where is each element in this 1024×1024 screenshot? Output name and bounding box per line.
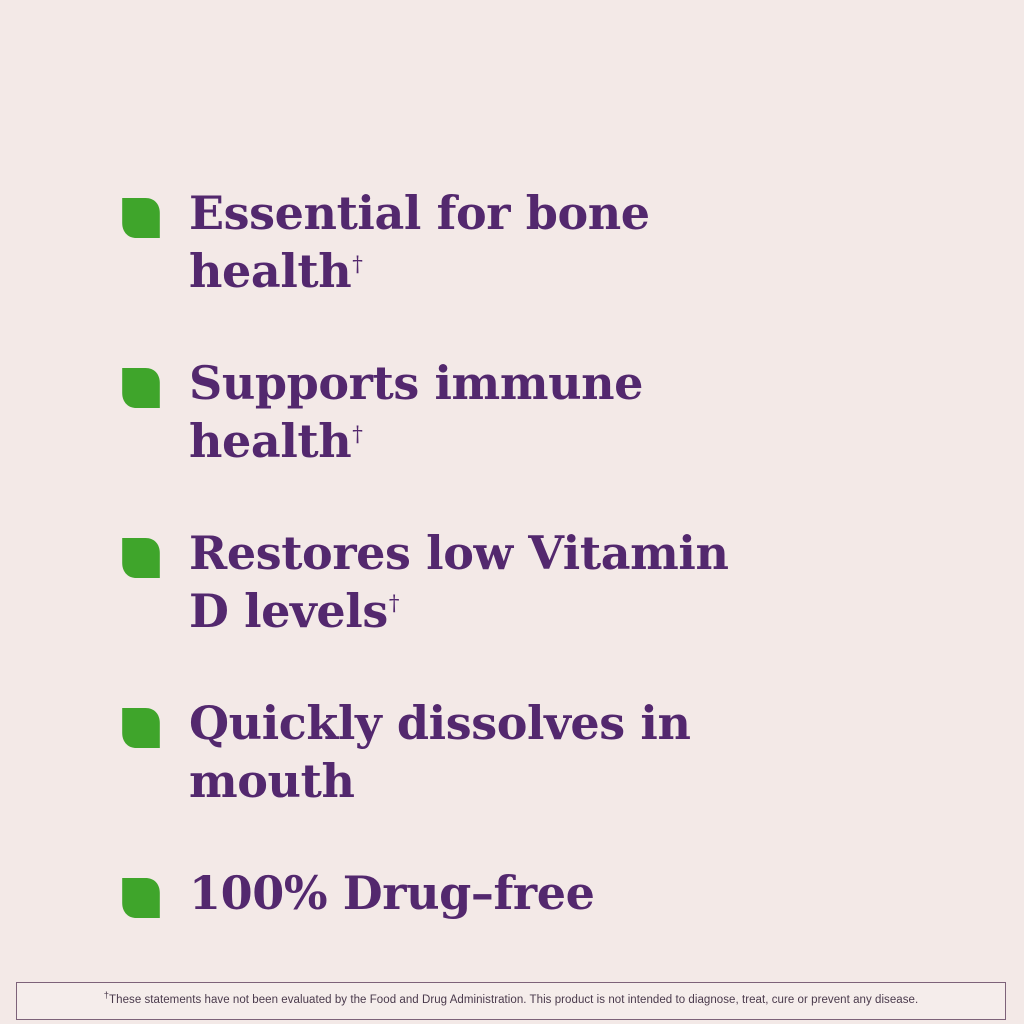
dagger-mark: †: [389, 590, 399, 615]
leaf-icon: [121, 706, 161, 750]
disclaimer-body: These statements have not been evaluated…: [109, 994, 918, 1006]
list-item: 100% Drug–free: [121, 865, 921, 923]
list-item: Supports immune health†: [121, 355, 921, 471]
leaf-icon: [121, 536, 161, 580]
list-item: Restores low Vitamin D levels†: [121, 525, 921, 641]
leaf-icon: [121, 876, 161, 920]
benefit-label: Quickly dissolves in mouth: [189, 695, 789, 811]
benefits-list: Essential for bone health† Supports immu…: [121, 185, 921, 923]
benefits-panel: Essential for bone health† Supports immu…: [0, 0, 1024, 1024]
benefit-label: 100% Drug–free: [189, 865, 595, 923]
leaf-icon: [121, 366, 161, 410]
list-item: Quickly dissolves in mouth: [121, 695, 921, 811]
disclaimer-box: †These statements have not been evaluate…: [16, 982, 1006, 1020]
dagger-mark: †: [352, 251, 362, 276]
dagger-mark: †: [352, 421, 362, 446]
benefit-label: Restores low Vitamin D levels†: [189, 525, 769, 641]
leaf-icon: [121, 196, 161, 240]
list-item: Essential for bone health†: [121, 185, 921, 301]
benefit-label: Supports immune health†: [189, 355, 789, 471]
disclaimer-text: †These statements have not been evaluate…: [104, 994, 919, 1008]
benefit-label: Essential for bone health†: [189, 185, 789, 301]
